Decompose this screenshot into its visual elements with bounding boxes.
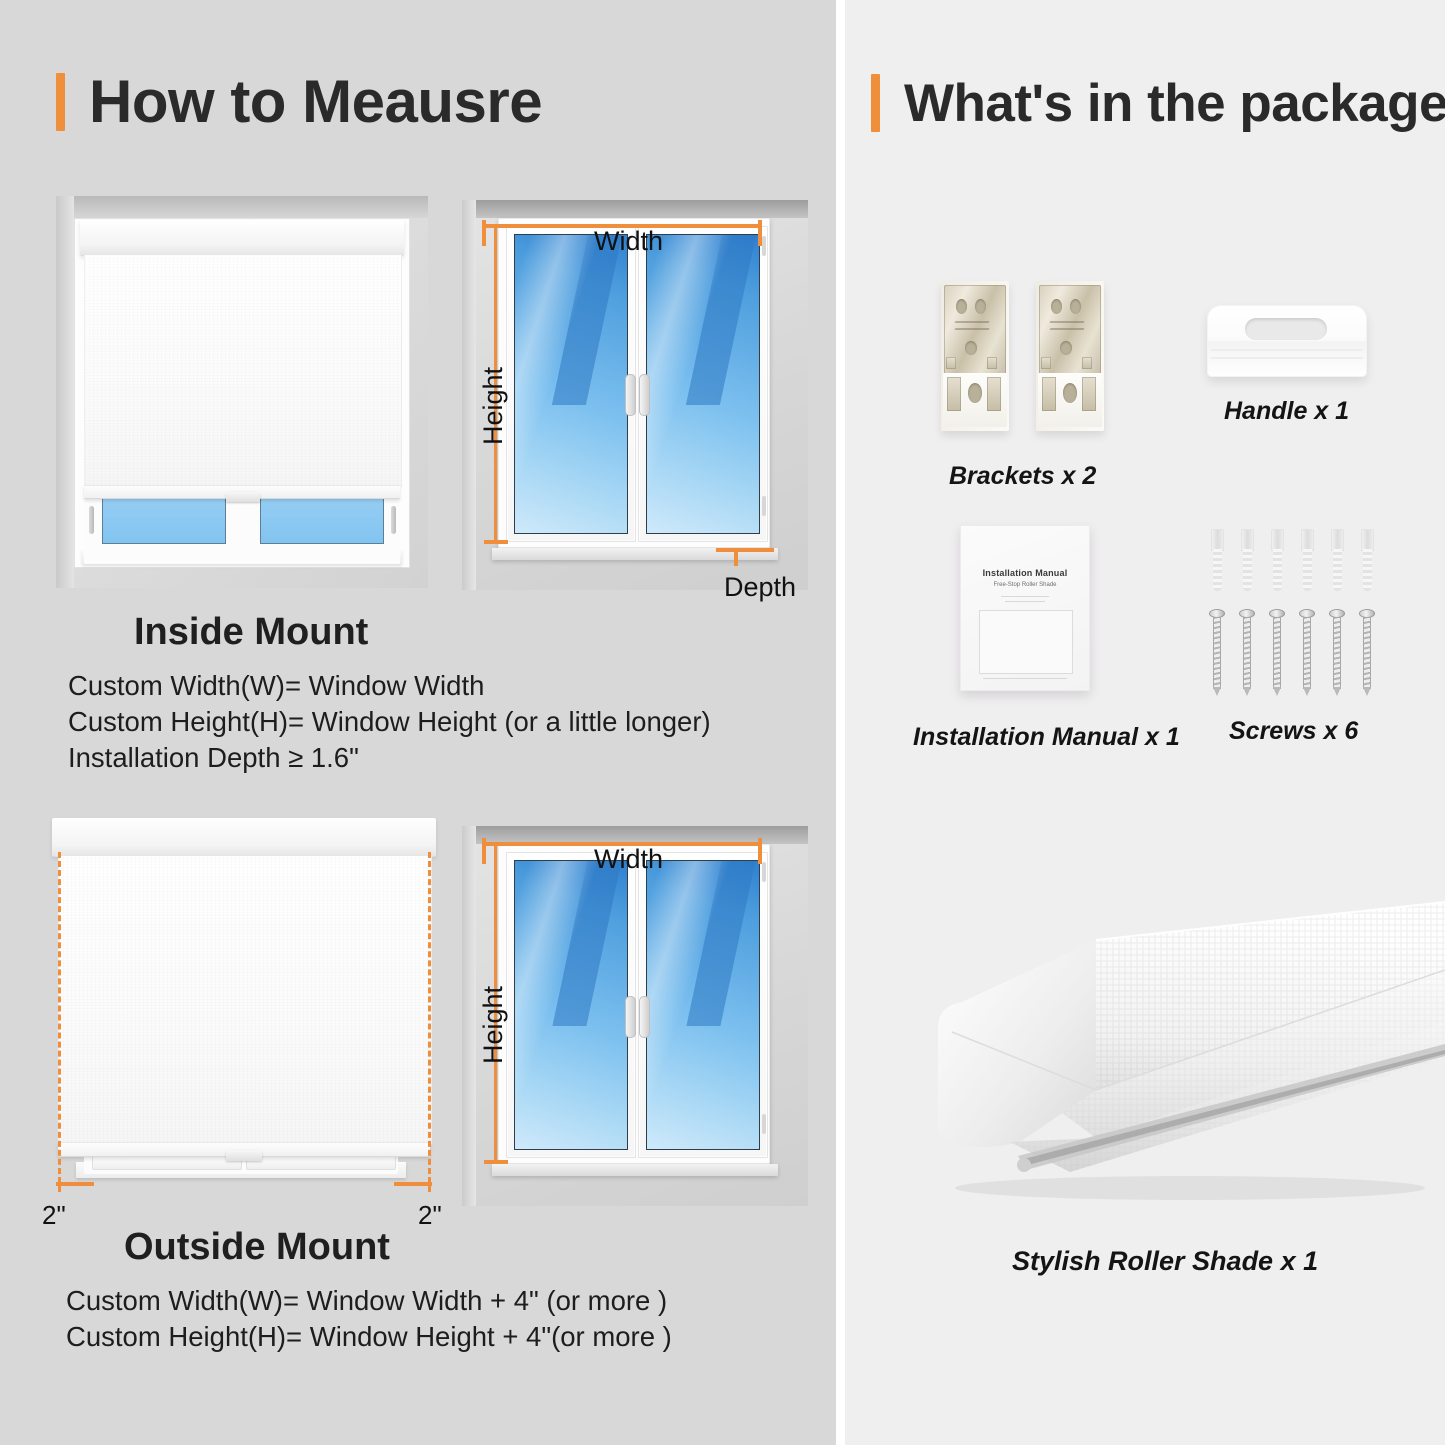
handle-icon <box>1207 305 1367 377</box>
outside-mount-spec-2: Custom Height(H)= Window Height + 4"(or … <box>66 1321 672 1353</box>
window-hinge-top <box>762 236 766 256</box>
bracket-tab-left <box>946 357 956 369</box>
screw-icon-6 <box>1359 609 1375 695</box>
bracket-plate-tab-left-b <box>1042 377 1056 411</box>
infographic-root: How to Meausre <box>0 0 1445 1445</box>
window-handle-left-pane-2 <box>625 996 636 1038</box>
height-measure-cap-top-2 <box>484 842 508 846</box>
bracket-hole-2 <box>975 299 986 314</box>
screw-tip-3 <box>1273 687 1281 696</box>
bracket-hole-1 <box>956 299 967 314</box>
bracket-icon <box>941 281 1009 431</box>
depth-measure-tick <box>734 548 738 566</box>
window-handle-right <box>391 506 396 534</box>
overhang-arrow-right <box>394 1182 432 1186</box>
screw-tip-5 <box>1333 687 1341 696</box>
recess-top-shadow <box>56 196 428 218</box>
anchor-head-5 <box>1331 529 1344 551</box>
roller-shade-label: Stylish Roller Shade x 1 <box>1012 1246 1318 1277</box>
bracket-keyhole-b <box>1063 383 1077 403</box>
anchor-body-6 <box>1363 549 1372 591</box>
window-glass-right-2 <box>646 860 760 1150</box>
screw-shaft-1 <box>1213 617 1221 689</box>
handle-groove-1 <box>1211 349 1363 351</box>
bracket-hole-1b <box>1051 299 1062 314</box>
anchor-body-3 <box>1273 549 1282 591</box>
screw-shaft-5 <box>1333 617 1341 689</box>
bracket-plate-tab-right-b <box>1082 377 1096 411</box>
window-handle-left-pane <box>625 374 636 416</box>
glass-pane-left <box>102 498 226 544</box>
screw-tip-1 <box>1213 687 1221 696</box>
wall-anchor-icon-2 <box>1239 529 1256 591</box>
bracket-rib-1b <box>1050 321 1085 323</box>
window-hinge-bottom-2 <box>762 1114 766 1134</box>
anchor-head-1 <box>1211 529 1224 551</box>
screw-tip-2 <box>1243 687 1251 696</box>
package-heading: What's in the package <box>871 74 1445 132</box>
diagram-reveal-left <box>462 200 476 590</box>
bracket-tab-right <box>987 357 997 369</box>
shade-headrail <box>80 220 404 256</box>
height-measure-cap-top <box>484 224 508 228</box>
overhang-label-left: 2" <box>42 1200 66 1231</box>
window-handle-right-pane <box>639 374 650 416</box>
inside-mount-window-diagram: Width Height Depth <box>462 200 808 590</box>
bracket-rib-1 <box>955 321 990 323</box>
screw-shaft-6 <box>1363 617 1371 689</box>
window-diagram-sill-2 <box>492 1164 778 1176</box>
anchor-head-2 <box>1241 529 1254 551</box>
manual-cover-subtitle: Free-Stop Roller Shade <box>961 582 1089 588</box>
screw-icon-2 <box>1239 609 1255 695</box>
roller-shade-icon <box>900 880 1445 1210</box>
anchor-head-4 <box>1301 529 1314 551</box>
glass-glare-right <box>686 234 758 405</box>
manual-diagram-box <box>979 610 1073 674</box>
screw-icon-4 <box>1299 609 1315 695</box>
inside-mount-spec-2: Custom Height(H)= Window Height (or a li… <box>68 706 711 738</box>
inside-mount-title: Inside Mount <box>134 611 368 654</box>
bracket-hole-2b <box>1070 299 1081 314</box>
manual-footer-line <box>983 678 1067 679</box>
inside-mount-spec-3: Installation Depth ≥ 1.6" <box>68 742 359 774</box>
screw-icon-1 <box>1209 609 1225 695</box>
screw-icon-3 <box>1269 609 1285 695</box>
outside-mount-title: Outside Mount <box>124 1226 390 1269</box>
height-measure-cap-bottom-2 <box>484 1160 508 1164</box>
outside-shade-pull-handle <box>226 1150 262 1161</box>
window-handle-left <box>89 506 94 534</box>
bracket-plate-tab-right <box>987 377 1001 411</box>
manual-cover-title: Installation Manual <box>961 568 1089 578</box>
screw-shaft-2 <box>1243 617 1251 689</box>
bracket-hole-3b <box>1060 341 1072 355</box>
manual-line-2 <box>1005 601 1045 602</box>
glass-pane-right <box>260 498 384 544</box>
outside-shade-fabric <box>58 856 432 1144</box>
shade-fabric <box>84 255 402 487</box>
outside-shade-headrail <box>52 818 436 857</box>
screw-shaft-3 <box>1273 617 1281 689</box>
accent-bar-icon <box>56 73 65 131</box>
window-glass-right <box>646 234 760 534</box>
glass-glare-right-2 <box>686 860 757 1026</box>
roller-shade-graphic <box>900 880 1445 1210</box>
screw-shaft-4 <box>1303 617 1311 689</box>
anchor-head-6 <box>1361 529 1374 551</box>
overhang-guide-left <box>58 852 61 1192</box>
window-glass-left <box>514 234 628 534</box>
manual-icon: Installation Manual Free-Stop Roller Sha… <box>960 525 1090 691</box>
wall-anchor-icon-6 <box>1359 529 1376 591</box>
accent-bar-icon-2 <box>871 74 880 132</box>
panel-divider <box>836 0 845 1445</box>
window-glass-left-2 <box>514 860 628 1150</box>
bracket-tab-right-b <box>1082 357 1092 369</box>
height-measure-cap-bottom <box>484 540 508 544</box>
how-to-measure-heading-text: How to Meausre <box>89 72 542 132</box>
wall-anchor-icon-4 <box>1299 529 1316 591</box>
bracket-keyhole <box>968 383 982 403</box>
wall-anchor-icon-5 <box>1329 529 1346 591</box>
height-label-2: Height <box>478 986 509 1064</box>
shade-pull-handle <box>226 492 260 502</box>
anchor-body-4 <box>1303 549 1312 591</box>
outside-mount-spec-1: Custom Width(W)= Window Width + 4" (or m… <box>66 1285 667 1317</box>
screw-tip-4 <box>1303 687 1311 696</box>
overhang-label-right: 2" <box>418 1200 442 1231</box>
wall-anchor-icon-3 <box>1269 529 1286 591</box>
height-label: Height <box>478 367 509 445</box>
width-label-2: Width <box>594 844 663 875</box>
anchor-body-1 <box>1213 549 1222 591</box>
screw-icon-5 <box>1329 609 1345 695</box>
depth-label: Depth <box>724 572 796 603</box>
window-hinge-top-2 <box>762 862 766 882</box>
anchor-body-2 <box>1243 549 1252 591</box>
handle-groove-2 <box>1211 357 1363 359</box>
installation-manual-label: Installation Manual x 1 <box>913 723 1180 752</box>
recess-left-shadow <box>56 196 74 588</box>
anchor-head-3 <box>1271 529 1284 551</box>
inside-mount-spec-1: Custom Width(W)= Window Width <box>68 670 484 702</box>
handle-label: Handle x 1 <box>1224 397 1349 426</box>
depth-measure-line <box>716 548 774 552</box>
window-hinge-bottom <box>762 496 766 516</box>
bracket-plate-tab-left <box>947 377 961 411</box>
glass-glare-left <box>552 234 624 405</box>
bracket-hole-3 <box>965 341 977 355</box>
width-label: Width <box>594 226 663 257</box>
bracket-rib-2 <box>955 328 990 330</box>
width-measure-cap-right-2 <box>758 838 762 864</box>
glass-glare-left-2 <box>552 860 623 1026</box>
overhang-guide-right <box>428 852 431 1192</box>
diagram-reveal-top <box>462 200 808 218</box>
package-heading-text: What's in the package <box>904 77 1445 130</box>
inside-mount-shade-illustration <box>56 196 428 588</box>
how-to-measure-heading: How to Meausre <box>56 72 542 132</box>
brackets-label: Brackets x 2 <box>949 462 1096 491</box>
manual-line-1 <box>1001 596 1049 597</box>
anchor-body-5 <box>1333 549 1342 591</box>
screw-tip-6 <box>1363 687 1371 696</box>
screws-label: Screws x 6 <box>1229 717 1358 746</box>
bracket-rib-2b <box>1050 328 1085 330</box>
overhang-arrow-left <box>56 1182 94 1186</box>
width-measure-cap-right <box>758 220 762 246</box>
diagram-reveal-left-2 <box>462 826 476 1206</box>
wall-anchor-icon-1 <box>1209 529 1226 591</box>
outside-mount-shade-illustration <box>40 810 440 1202</box>
bracket-icon-2 <box>1036 281 1104 431</box>
handle-slot <box>1245 318 1327 340</box>
bracket-tab-left-b <box>1041 357 1051 369</box>
outside-mount-window-diagram: Width Height <box>462 826 808 1206</box>
window-handle-right-pane-2 <box>639 996 650 1038</box>
